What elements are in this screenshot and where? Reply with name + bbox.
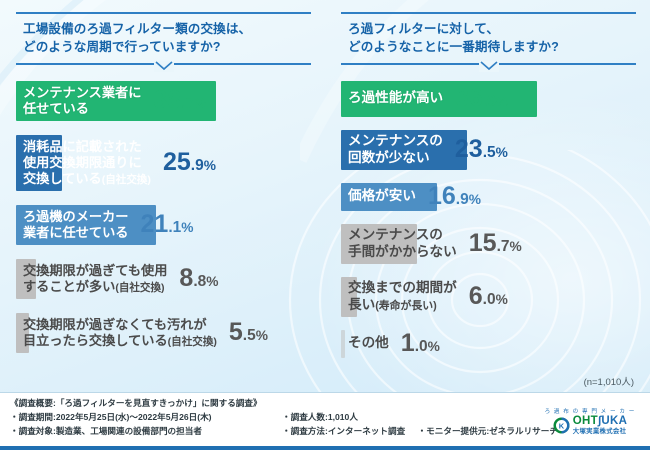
result-row: 交換期限が過ぎなくても汚れが 目立ったら交換している(自社交換)5.5%: [0, 313, 325, 353]
percentage-unit: %: [194, 96, 206, 111]
result-row: 交換までの期間が 長い(寿命が長い)6.0%: [325, 277, 650, 317]
percentage-integer: 21: [141, 210, 169, 238]
result-percentage: 23.5%: [455, 137, 508, 162]
percentage-integer: 36: [455, 84, 483, 112]
logo-mark-icon: K: [553, 417, 570, 434]
percentage-decimal: .8: [193, 273, 206, 290]
result-percentage: 8.8%: [179, 266, 218, 291]
percentage-unit: %: [469, 192, 481, 207]
left-results-list: メンテナンス業者に 任せている38.7%消耗品に記載された 使用交換期限通りに …: [0, 81, 325, 353]
infographic-stage: 工場設備のろ過フィルター類の交換は、 どのような周期で行っていますか? メンテナ…: [0, 0, 650, 450]
right-results-list: ろ過性能が高い36.9%メンテナンスの 回数が少ない23.5%価格が安い16.9…: [325, 81, 650, 358]
result-percentage: 36.9%: [455, 86, 508, 111]
result-label: 価格が安い: [341, 184, 422, 209]
result-label: 交換までの期間が 長い(寿命が長い): [341, 276, 463, 317]
result-row: メンテナンス業者に 任せている38.7%: [0, 81, 325, 121]
percentage-integer: 6: [469, 282, 483, 310]
result-row: その他1.0%: [325, 330, 650, 358]
company-logo[interactable]: ろ 過 布 の 専 門 メ ー カ ー K OHT∫UKA: [538, 401, 642, 441]
panels-container: 工場設備のろ過フィルター類の交換は、 どのような周期で行っていますか? メンテナ…: [0, 0, 650, 392]
right-panel: ろ過フィルターに対して、 どのようなことに一番期待しますか? ろ過性能が高い36…: [325, 0, 650, 392]
result-label: 交換期限が過ぎても使用 することが多い(自社交換): [16, 259, 173, 299]
result-row: メンテナンスの 回数が少ない23.5%: [325, 130, 650, 170]
result-label-sub: (自社交換): [168, 336, 217, 348]
right-question-text: ろ過フィルターに対して、 どのようなことに一番期待しますか?: [341, 21, 636, 57]
percentage-unit: %: [510, 239, 522, 254]
result-percentage: 6.0%: [469, 284, 508, 309]
result-label-sub: (自社交換): [115, 282, 164, 294]
left-question-text: 工場設備のろ過フィルター類の交換は、 どのような周期で行っていますか?: [16, 21, 311, 57]
percentage-integer: 1: [401, 329, 415, 357]
logo-company-name: 大塚実業株式会社: [573, 429, 627, 435]
footer: 《調査概要:「ろ過フィルターを見直すきっかけ」に関する調査》 ・調査期間:202…: [0, 392, 650, 450]
result-label: メンテナンス業者に 任せている: [16, 81, 147, 121]
percentage-integer: 8: [179, 264, 193, 292]
percentage-decimal: .0: [415, 338, 428, 355]
result-percentage: 1.0%: [401, 331, 440, 356]
percentage-unit: %: [206, 274, 218, 289]
percentage-integer: 23: [455, 135, 483, 163]
percentage-decimal: .0: [483, 291, 496, 308]
percentage-integer: 16: [428, 182, 456, 210]
left-panel: 工場設備のろ過フィルター類の交換は、 どのような周期で行っていますか? メンテナ…: [0, 0, 325, 392]
result-row: メンテナンスの 手間がかからない15.7%: [325, 224, 650, 264]
result-label-sub: (寿命が長い): [375, 300, 437, 312]
percentage-decimal: .1: [168, 219, 181, 236]
percentage-unit: %: [496, 94, 508, 109]
result-label: 消耗品に記載された 使用交換期限通りに 交換している(自社交換): [16, 135, 157, 191]
result-percentage: 5.5%: [229, 320, 268, 345]
logo-word-b: UKA: [601, 415, 627, 427]
percentage-integer: 5: [229, 318, 243, 346]
svg-text:K: K: [559, 422, 565, 431]
result-row: ろ過性能が高い36.9%: [325, 81, 650, 117]
result-label: メンテナンスの 回数が少ない: [341, 129, 449, 170]
result-label-sub: (自社交換): [102, 174, 151, 186]
result-percentage: 21.1%: [141, 212, 194, 237]
percentage-integer: 15: [469, 229, 497, 257]
percentage-decimal: .5: [483, 144, 496, 161]
result-row: ろ過機のメーカー 業者に任せている21.1%: [0, 205, 325, 245]
result-label: ろ過性能が高い: [341, 86, 449, 111]
result-row: 消耗品に記載された 使用交換期限通りに 交換している(自社交換)25.9%: [0, 135, 325, 191]
result-label: メンテナンスの 手間がかからない: [341, 223, 463, 264]
result-row: 価格が安い16.9%: [325, 183, 650, 211]
percentage-unit: %: [428, 339, 440, 354]
result-label: ろ過機のメーカー 業者に任せている: [16, 205, 135, 245]
result-percentage: 25.9%: [163, 150, 216, 175]
percentage-unit: %: [496, 292, 508, 307]
percentage-decimal: .7: [181, 95, 194, 112]
survey-target: ・調査対象:製造業、工場関連の設備部門の担当者: [10, 425, 282, 438]
percentage-unit: %: [496, 145, 508, 160]
result-label: 交換期限が過ぎなくても汚れが 目立ったら交換している(自社交換): [16, 313, 223, 353]
percentage-integer: 38: [153, 86, 181, 114]
survey-period: ・調査期間:2022年5月25日(水)〜2022年5月26日(木): [10, 411, 282, 424]
survey-method: ・調査方法:インターネット調査: [282, 425, 405, 438]
sample-size-note: (n=1,010人): [584, 374, 634, 388]
percentage-unit: %: [204, 158, 216, 173]
percentage-decimal: .5: [243, 327, 256, 344]
result-percentage: 38.7%: [153, 88, 206, 113]
survey-monitor-provider: ・モニター提供元:ゼネラルリサーチ: [418, 425, 558, 438]
percentage-decimal: .7: [497, 238, 510, 255]
percentage-integer: 25: [163, 148, 191, 176]
right-question-header: ろ過フィルターに対して、 どのようなことに一番期待しますか?: [341, 12, 636, 65]
result-percentage: 15.7%: [469, 231, 522, 256]
percentage-decimal: .9: [483, 93, 496, 110]
left-question-header: 工場設備のろ過フィルター類の交換は、 どのような周期で行っていますか?: [16, 12, 311, 65]
percentage-unit: %: [256, 328, 268, 343]
result-row: 交換期限が過ぎても使用 することが多い(自社交換)8.8%: [0, 259, 325, 299]
result-percentage: 16.9%: [428, 184, 481, 209]
logo-tagline: ろ 過 布 の 専 門 メ ー カ ー: [545, 407, 636, 415]
chevron-down-icon: [154, 61, 174, 72]
percentage-unit: %: [181, 220, 193, 235]
chevron-down-icon: [479, 61, 499, 72]
result-label: その他: [341, 331, 395, 356]
logo-word-a: OHT: [573, 415, 598, 427]
percentage-decimal: .9: [191, 157, 204, 174]
percentage-decimal: .9: [456, 191, 469, 208]
